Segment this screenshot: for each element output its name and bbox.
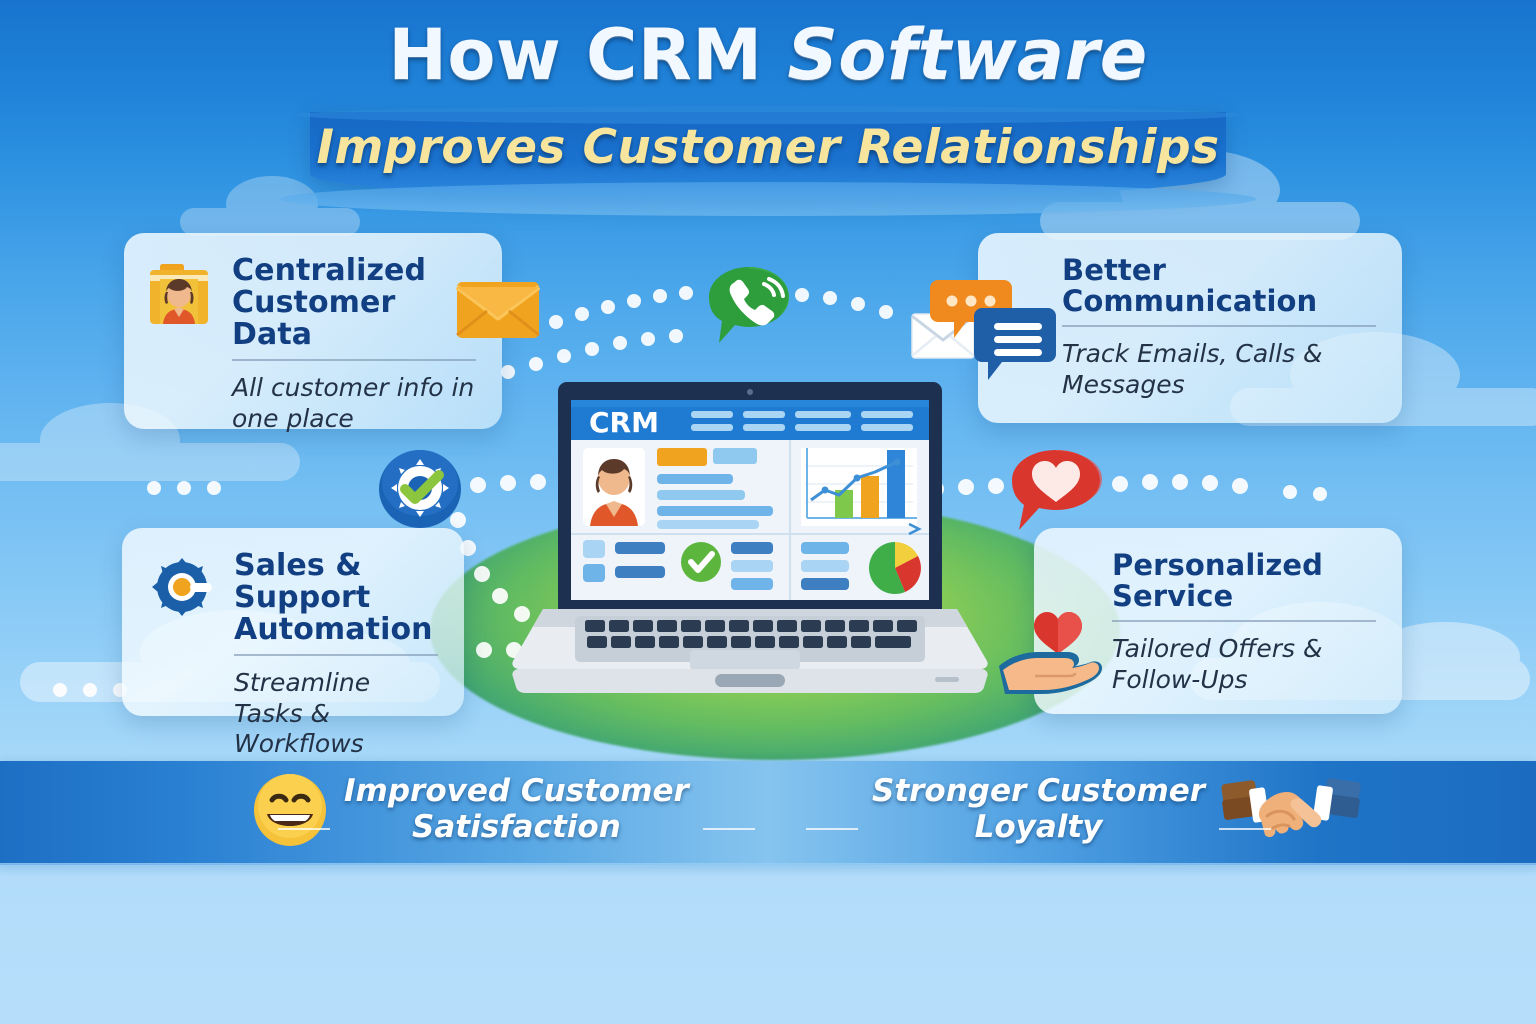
divider: [234, 654, 438, 656]
laptop-illustration: CRM: [505, 378, 995, 708]
card-body: Track Emails, Calls & Messages: [1062, 339, 1376, 400]
outcome-improved-customer-satisfaction: Improved Customer Satisfaction: [252, 772, 689, 848]
divider: [232, 359, 476, 361]
page-title: How CRM Software: [0, 14, 1536, 96]
card-body: Tailored Offers & Follow-Ups: [1112, 634, 1376, 695]
outcome-line2: Satisfaction: [344, 810, 689, 846]
card-title: Sales & Support Automation: [234, 550, 438, 645]
folder-person-icon: [148, 262, 210, 326]
heart-bubble-icon: [1010, 448, 1102, 534]
outcome-line1: Improved Customer: [344, 773, 689, 809]
card-body: Streamline Tasks & Workflows: [234, 668, 438, 760]
card-title: Better Communication: [1062, 255, 1376, 316]
crm-app-label: CRM: [589, 406, 659, 439]
divider: [1062, 325, 1376, 327]
card-title: Centralized Customer Data: [232, 255, 476, 350]
card-title: Personalized Service: [1112, 550, 1376, 611]
gear-check-icon: [378, 447, 462, 531]
handshake-icon: [1221, 772, 1361, 848]
outcome-label: Stronger Customer Loyalty: [872, 774, 1205, 846]
smiley-icon: [252, 772, 328, 848]
chat-bubbles-icon: [910, 278, 1060, 380]
divider: [1112, 620, 1376, 622]
card-body: All customer info in one place: [232, 373, 476, 434]
page-title-part2: Software: [787, 14, 1147, 96]
outcome-label: Improved Customer Satisfaction: [344, 774, 689, 846]
bar-line-chart: [801, 448, 919, 534]
phone-bubble-icon: [706, 265, 792, 347]
outcome-line2: Loyalty: [872, 810, 1205, 846]
gear-icon: [150, 556, 214, 618]
page-title-part1: How CRM: [388, 14, 787, 96]
hand-heart-icon: [995, 604, 1121, 700]
envelope-icon: [456, 281, 540, 339]
infographic-canvas: How CRM Software Improves Customer Relat…: [0, 0, 1536, 1024]
page-subtitle: Improves Customer Relationships: [0, 120, 1536, 175]
outcome-stronger-customer-loyalty: Stronger Customer Loyalty: [872, 772, 1361, 848]
outcome-line1: Stronger Customer: [872, 773, 1205, 809]
